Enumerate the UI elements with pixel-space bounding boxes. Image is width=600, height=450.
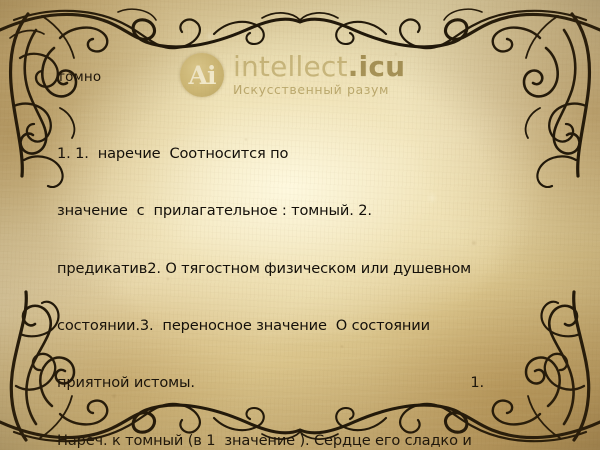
dictionary-slide: Ai intellect.icu Искусственный разум том… — [0, 0, 600, 450]
page-vignette — [0, 0, 600, 450]
